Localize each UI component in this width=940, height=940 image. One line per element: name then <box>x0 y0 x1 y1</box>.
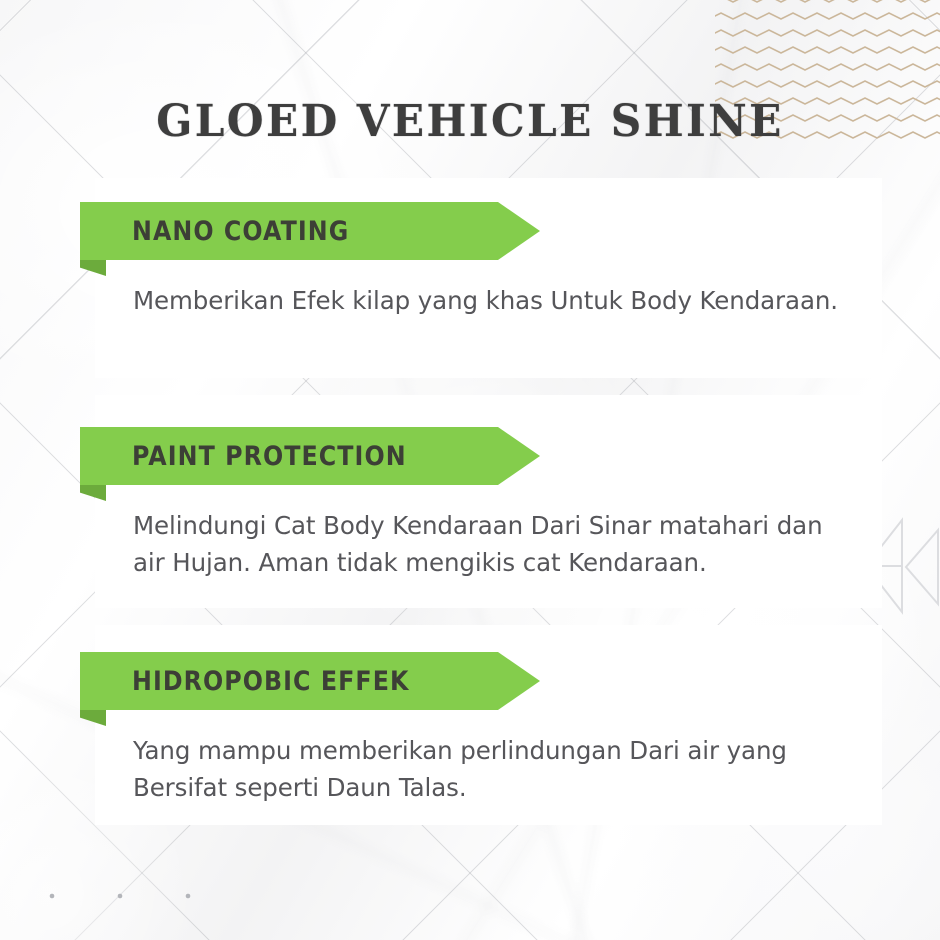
banner-chevron-shape: NANO COATING <box>80 202 540 260</box>
banner-chevron-shape: PAINT PROTECTION <box>80 427 540 485</box>
feature-title: NANO COATING <box>132 216 349 247</box>
feature-title: PAINT PROTECTION <box>132 441 407 472</box>
poster-canvas: GLOED VEHICLE SHINE NANO COATING Memberi… <box>0 0 940 940</box>
banner-chevron-shape: HIDROPOBIC EFFEK <box>80 652 540 710</box>
feature-description: Melindungi Cat Body Kendaraan Dari Sinar… <box>133 507 843 581</box>
feature-banner: HIDROPOBIC EFFEK <box>80 652 540 710</box>
feature-description: Yang mampu memberikan perlindungan Dari … <box>133 732 843 806</box>
page-title: GLOED VEHICLE SHINE <box>19 96 921 147</box>
feature-banner: PAINT PROTECTION <box>80 427 540 485</box>
feature-title: HIDROPOBIC EFFEK <box>132 666 409 697</box>
feature-description: Memberikan Efek kilap yang khas Untuk Bo… <box>133 282 843 319</box>
dot-grid-decoration <box>18 862 228 922</box>
feature-banner: NANO COATING <box>80 202 540 260</box>
